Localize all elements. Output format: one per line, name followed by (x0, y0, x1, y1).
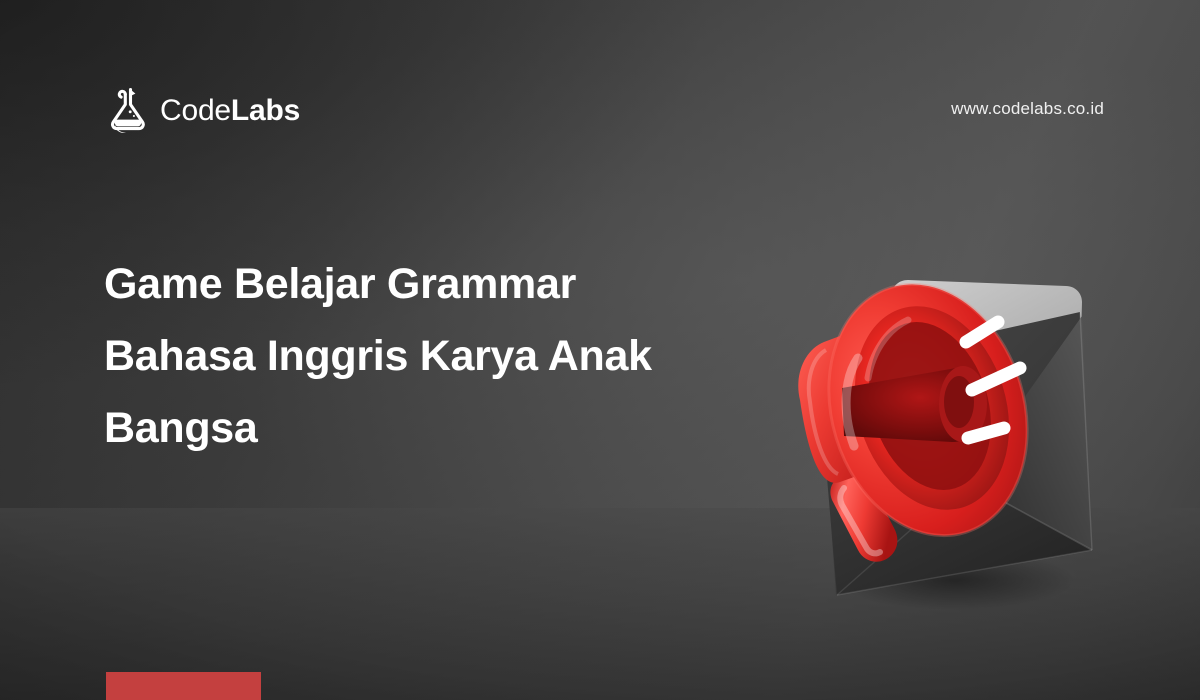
banner-root: CodeLabs www.codelabs.co.id Game Belajar… (0, 0, 1200, 700)
accent-bar (106, 672, 261, 700)
site-url[interactable]: www.codelabs.co.id (951, 99, 1104, 119)
logo[interactable]: CodeLabs (104, 86, 300, 136)
megaphone-envelope-illustration (780, 250, 1120, 610)
logo-text-code: Code (160, 94, 231, 127)
logo-text-labs: Labs (231, 94, 300, 127)
flask-icon (104, 86, 148, 136)
logo-wordmark: CodeLabs (160, 96, 300, 126)
header: CodeLabs www.codelabs.co.id (0, 0, 1200, 200)
page-title: Game Belajar Grammar Bahasa Inggris Kary… (104, 248, 724, 464)
